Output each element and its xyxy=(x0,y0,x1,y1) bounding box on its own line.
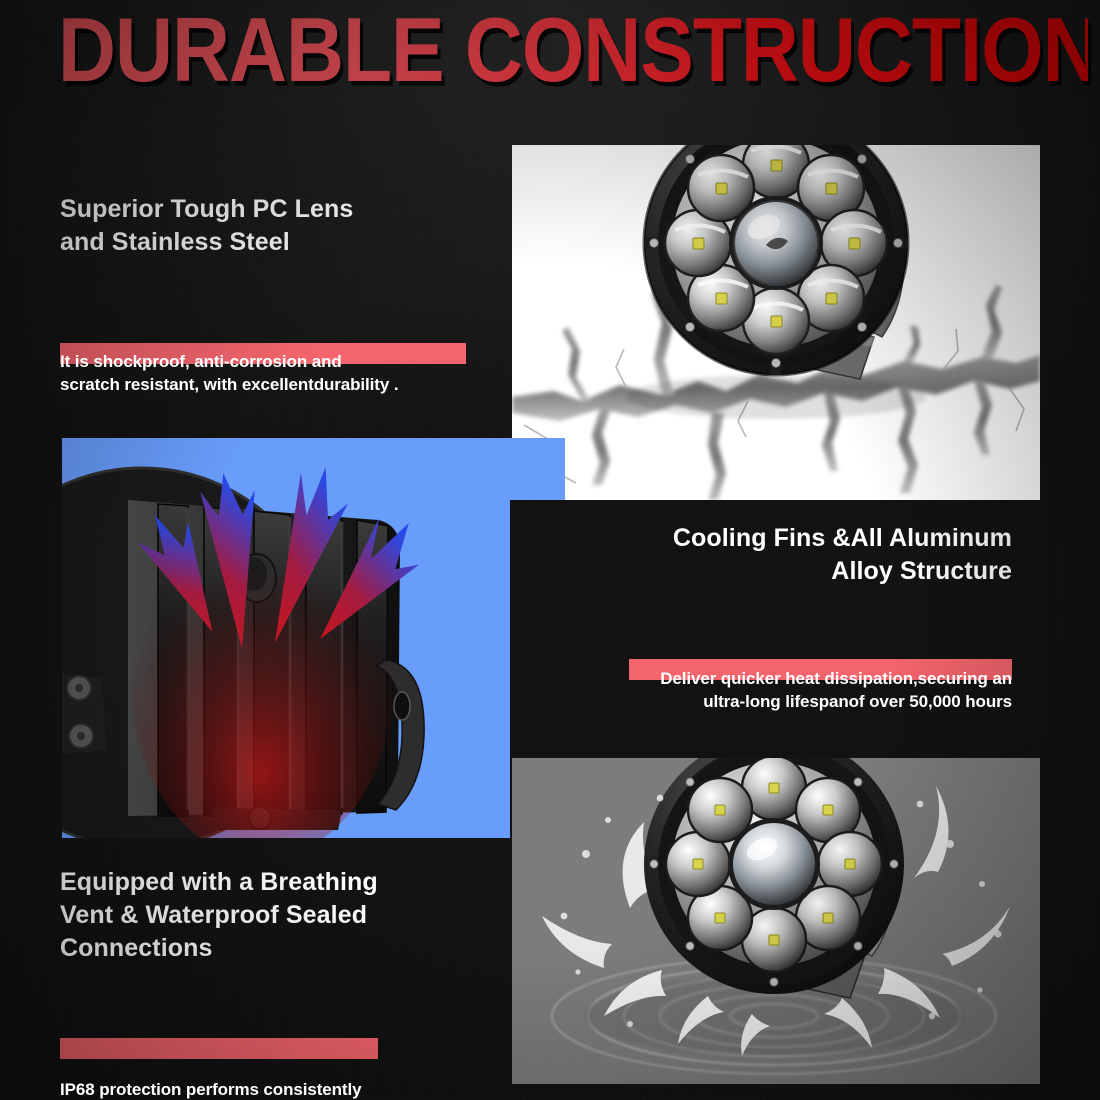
image-panel-cracked-ground xyxy=(512,145,1040,500)
feature-block-waterproof: Equipped with a Breathing Vent & Waterpr… xyxy=(60,866,460,1100)
feature-body-lens: It is shockproof, anti-corrosion and scr… xyxy=(60,350,500,396)
led-driving-light-front-view xyxy=(616,145,946,415)
mount-bolts xyxy=(62,674,106,754)
feature-body-cooling: Deliver quicker heat dissipation,securin… xyxy=(600,667,1012,713)
water-splash-illustration xyxy=(512,758,1040,1084)
feature-body-waterproof: IP68 protection performs consistently in… xyxy=(60,1078,460,1100)
product-infographic-poster: DURABLE CONSTRUCTION xyxy=(0,0,1100,1100)
page-title: DURABLE CONSTRUCTION xyxy=(58,2,1088,97)
feature-heading-waterproof: Equipped with a Breathing Vent & Waterpr… xyxy=(60,866,460,965)
cooling-fins-illustration xyxy=(62,438,510,838)
image-panel-waterproof xyxy=(512,758,1040,1084)
image-panel-cooling-fins xyxy=(62,438,510,838)
feature-block-cooling: Cooling Fins &All Aluminum Alloy Structu… xyxy=(600,522,1012,713)
feature-heading-cooling: Cooling Fins &All Aluminum Alloy Structu… xyxy=(600,522,1012,588)
center-projector-lens xyxy=(729,196,823,290)
center-projector-lens-water xyxy=(728,818,820,910)
highlight-bar-waterproof xyxy=(60,1038,378,1059)
feature-heading-lens: Superior Tough PC Lens and Stainless Ste… xyxy=(60,193,500,259)
feature-block-lens: Superior Tough PC Lens and Stainless Ste… xyxy=(60,193,500,396)
